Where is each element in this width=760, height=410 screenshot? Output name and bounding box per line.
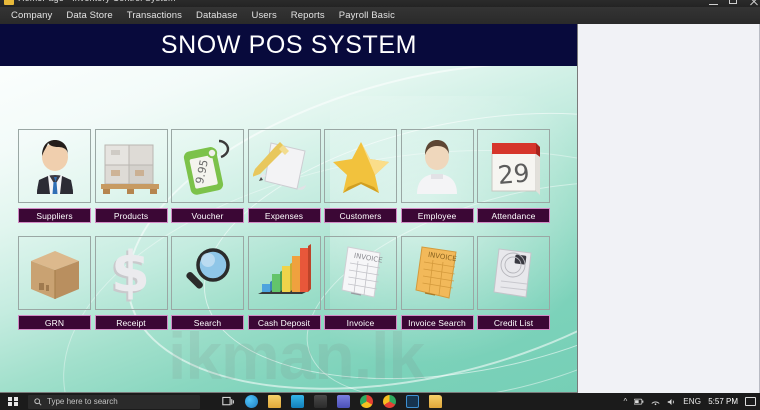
app-icon: [4, 0, 14, 5]
battery-icon[interactable]: [634, 398, 644, 406]
tile-voucher[interactable]: 9.95 Voucher: [171, 129, 244, 223]
tile-label-invoice-search[interactable]: Invoice Search: [401, 315, 474, 330]
app-body: Suppliers: [0, 66, 578, 393]
tile-label-customers[interactable]: Customers: [324, 208, 397, 223]
magnifier-icon[interactable]: [171, 236, 244, 310]
menu-item-company[interactable]: Company: [4, 8, 59, 23]
tile-label-search[interactable]: Search: [171, 315, 244, 330]
teams-icon[interactable]: [337, 395, 350, 408]
invoice-orange-icon[interactable]: INVOICE: [401, 236, 474, 310]
tile-label-expenses[interactable]: Expenses: [248, 208, 321, 223]
language-indicator[interactable]: ENG: [683, 397, 701, 406]
businessman-icon[interactable]: [18, 129, 91, 203]
invoice-white-icon[interactable]: INVOICE: [324, 236, 397, 310]
photoshop-icon[interactable]: [406, 395, 419, 408]
search-icon: [34, 398, 42, 406]
person-icon[interactable]: [401, 129, 474, 203]
tile-label-invoice[interactable]: Invoice: [324, 315, 397, 330]
dollar-sign-icon[interactable]: $ $: [95, 236, 168, 310]
volume-icon[interactable]: [667, 398, 676, 406]
menu-item-data-store[interactable]: Data Store: [59, 8, 119, 23]
menu-item-users[interactable]: Users: [244, 8, 283, 23]
store-icon[interactable]: [314, 395, 327, 408]
tile-label-receipt[interactable]: Receipt: [95, 315, 168, 330]
tile-receipt[interactable]: $ $ Receipt: [95, 236, 168, 330]
tile-label-attendance[interactable]: Attendance: [477, 208, 550, 223]
maximize-button[interactable]: [729, 0, 738, 6]
tile-invoice[interactable]: INVOICE Invoice: [324, 236, 397, 330]
tile-expenses[interactable]: Expenses: [248, 129, 321, 223]
mail-icon[interactable]: [291, 395, 304, 408]
chrome-icon-2[interactable]: [383, 395, 396, 408]
menubar: Company Data Store Transactions Database…: [0, 7, 760, 24]
menu-item-payroll-basic[interactable]: Payroll Basic: [332, 8, 402, 23]
taskbar-icons: [222, 395, 442, 408]
tile-grid: Suppliers: [18, 129, 562, 343]
price-tag-icon[interactable]: 9.95: [171, 129, 244, 203]
task-view-icon[interactable]: [222, 395, 235, 408]
tile-suppliers[interactable]: Suppliers: [18, 129, 91, 223]
bar-chart-icon[interactable]: [248, 236, 321, 310]
search-input[interactable]: Type here to search: [28, 395, 200, 409]
outer-window: HomePage - Inventory Control System Comp…: [0, 0, 760, 393]
tile-row-2: GRN $ $ Receipt: [18, 236, 562, 330]
close-button[interactable]: [749, 0, 758, 6]
tile-grn[interactable]: GRN: [18, 236, 91, 330]
tile-search[interactable]: Search: [171, 236, 244, 330]
menu-item-database[interactable]: Database: [189, 8, 244, 23]
tile-invoice-search[interactable]: INVOICE Invoice Search: [401, 236, 474, 330]
tile-customers[interactable]: Customers: [324, 129, 397, 223]
svg-text:$: $: [111, 243, 150, 303]
window-controls: [709, 0, 758, 6]
search-placeholder-text: Type here to search: [47, 397, 118, 406]
tile-label-suppliers[interactable]: Suppliers: [18, 208, 91, 223]
windows-start-icon[interactable]: [0, 393, 26, 410]
pos-application-form: SNOW POS SYSTEM: [0, 24, 578, 393]
edge-browser-icon[interactable]: [245, 395, 258, 408]
minimize-button[interactable]: [709, 0, 718, 6]
tile-employee[interactable]: Employee: [401, 129, 474, 223]
tile-label-products[interactable]: Products: [95, 208, 168, 223]
windows-taskbar: Type here to search ^: [0, 393, 760, 410]
tile-products[interactable]: Products: [95, 129, 168, 223]
tile-label-employee[interactable]: Employee: [401, 208, 474, 223]
credit-card-icon[interactable]: [477, 236, 550, 310]
tile-label-credit-list[interactable]: Credit List: [477, 315, 550, 330]
chrome-icon[interactable]: [360, 395, 373, 408]
tile-label-grn[interactable]: GRN: [18, 315, 91, 330]
tile-cash-deposit[interactable]: Cash Deposit: [248, 236, 321, 330]
tray-expand-icon[interactable]: ^: [624, 397, 628, 406]
screen: HomePage - Inventory Control System Comp…: [0, 0, 760, 410]
pencil-paper-icon[interactable]: [248, 129, 321, 203]
desktop: HomePage - Inventory Control System Comp…: [0, 0, 760, 410]
tile-credit-list[interactable]: Credit List: [477, 236, 550, 330]
app-header-banner: SNOW POS SYSTEM: [0, 24, 578, 66]
page-title: SNOW POS SYSTEM: [161, 31, 417, 60]
window-titlebar[interactable]: HomePage - Inventory Control System: [0, 0, 760, 7]
cardboard-box-icon[interactable]: [18, 236, 91, 310]
svg-text:29: 29: [496, 158, 530, 190]
clock[interactable]: 5:57 PM: [708, 397, 738, 406]
system-tray: ^ ENG 5:57 PM: [624, 397, 760, 406]
tile-label-voucher[interactable]: Voucher: [171, 208, 244, 223]
calendar-icon[interactable]: 29: [477, 129, 550, 203]
action-center-icon[interactable]: [745, 397, 756, 406]
file-explorer-icon[interactable]: [268, 395, 281, 408]
star-icon[interactable]: [324, 129, 397, 203]
tile-attendance[interactable]: 29 Attendance: [477, 129, 550, 223]
menu-item-reports[interactable]: Reports: [284, 8, 332, 23]
network-icon[interactable]: [651, 398, 660, 406]
tile-row-1: Suppliers: [18, 129, 562, 223]
menu-item-transactions[interactable]: Transactions: [120, 8, 189, 23]
boxes-pallet-icon[interactable]: [95, 129, 168, 203]
folder-icon[interactable]: [429, 395, 442, 408]
tile-label-cash-deposit[interactable]: Cash Deposit: [248, 315, 321, 330]
window-title: HomePage - Inventory Control System: [18, 0, 176, 3]
